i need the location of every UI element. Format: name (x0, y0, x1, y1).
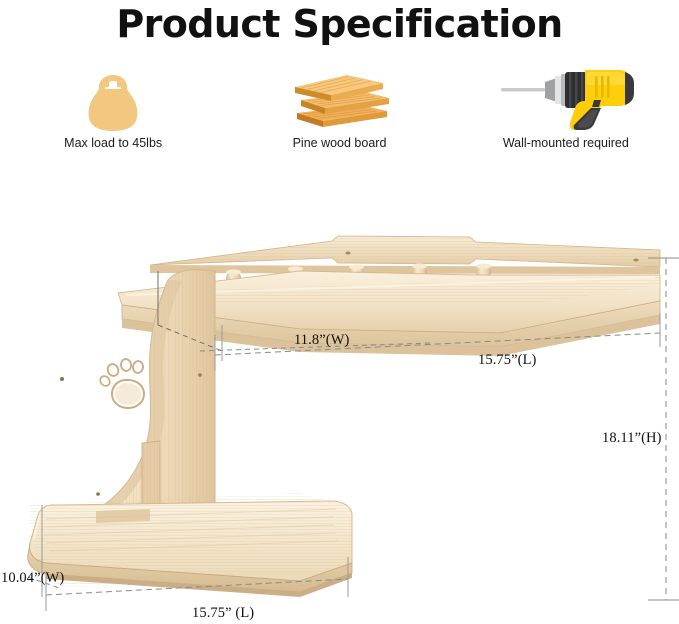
dimension-label-overall-height: 18.11”(H) (602, 430, 662, 447)
feature-row: Max load to 45lbs (0, 58, 679, 163)
product-specification-page: Product Specification Max load to 45lbs (0, 0, 679, 624)
bottom-step-platform (20, 490, 370, 600)
wood-planks-icon (287, 58, 391, 136)
screw-hole (198, 373, 202, 377)
kettlebell-icon (82, 58, 144, 136)
dimension-label-top-shelf-length: 15.75”(L) (478, 352, 536, 369)
top-rail (150, 236, 660, 274)
feature-label: Pine wood board (293, 136, 387, 150)
screw-hole (60, 377, 64, 381)
paw-print-engraving (98, 358, 144, 408)
page-title: Product Specification (0, 2, 679, 46)
feature-mounting: Wall-mounted required (453, 58, 679, 163)
feature-material: Pine wood board (226, 58, 452, 163)
feature-label: Max load to 45lbs (64, 136, 162, 150)
dimension-label-top-shelf-width: 11.8”(W) (294, 332, 349, 349)
product-illustration (0, 175, 679, 624)
panel-step-joint (96, 509, 150, 523)
dimension-label-bottom-step-length: 15.75” (L) (192, 605, 254, 622)
dimension-label-bottom-step-width: 10.04”(W) (1, 570, 64, 587)
screw-hole (96, 492, 100, 496)
feature-label: Wall-mounted required (503, 136, 629, 150)
power-drill-icon (495, 58, 637, 136)
feature-max-load: Max load to 45lbs (0, 58, 226, 163)
